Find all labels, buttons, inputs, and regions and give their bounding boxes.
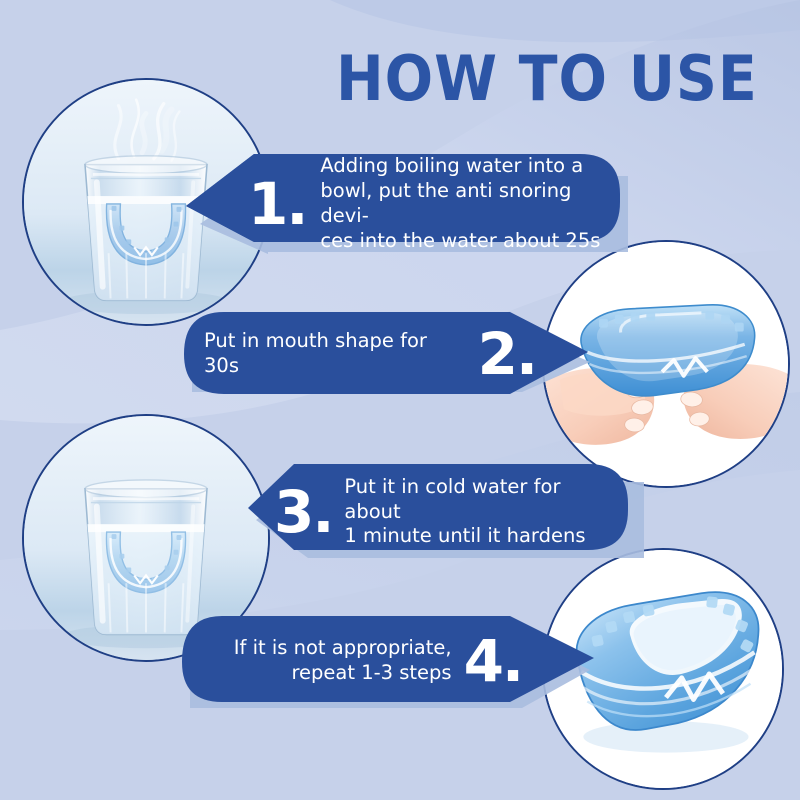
step-3-text: Put it in cold water for about 1 minute … [344, 475, 622, 550]
step-1-text: Adding boiling water into a bowl, put th… [320, 154, 602, 254]
step-1-banner: 1. Adding boiling water into a bowl, put… [176, 146, 628, 262]
page-title: HOW TO USE [336, 42, 758, 115]
step-2-number: 2. [478, 325, 536, 383]
step-4-text: If it is not appropriate, repeat 1-3 ste… [234, 636, 452, 686]
step-4-banner: If it is not appropriate, repeat 1-3 ste… [170, 606, 600, 716]
step-4-number: 4. [464, 632, 522, 690]
step-2-banner: Put in mouth shape for 30s 2. [178, 306, 598, 402]
step-1-number: 1. [248, 175, 306, 233]
infographic-canvas: HOW TO USE [0, 0, 800, 800]
step-2-text: Put in mouth shape for 30s [204, 329, 466, 379]
step-3-number: 3. [274, 483, 332, 541]
step-3-banner: 3. Put it in cold water for about 1 minu… [246, 458, 646, 566]
